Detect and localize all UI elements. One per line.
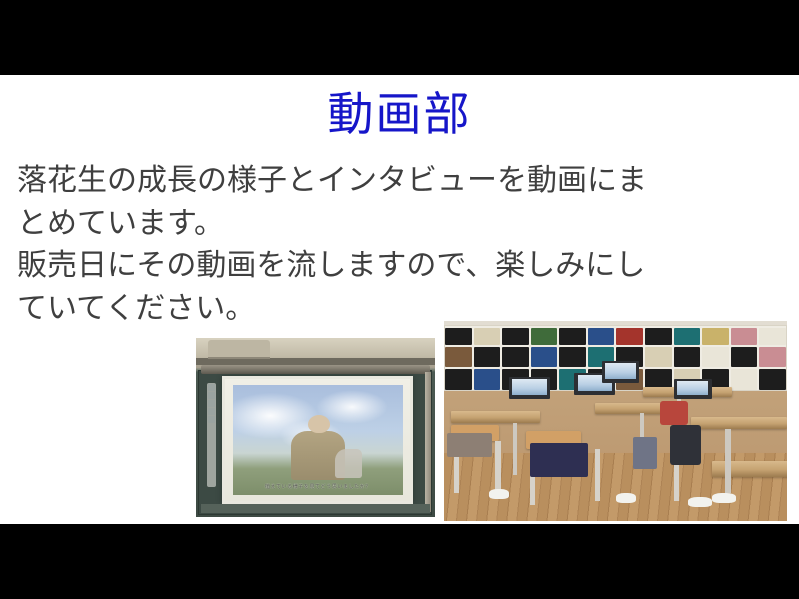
chair-leg [495, 441, 500, 493]
shoe [489, 489, 510, 499]
button-glyph [208, 416, 214, 423]
laptop [509, 377, 550, 399]
body-paragraph-1: 落花生の成長の様子とインタビューを動画にま とめています。 [17, 160, 707, 245]
screen-mount [208, 340, 270, 360]
shelf-cell [702, 347, 729, 367]
shelf-cell [531, 347, 558, 367]
shelf-cell [559, 328, 586, 345]
shelf-cell [474, 347, 501, 367]
shelf-cell [445, 328, 472, 345]
backpack [670, 425, 701, 465]
whiteboard-button-strip [207, 383, 217, 487]
shelf-row [444, 328, 787, 345]
body-paragraph-2: 販売日にその動画を流しますので、楽しみにし ていてください。 [17, 245, 707, 330]
shelf-cell [645, 347, 672, 367]
shelf-cell [559, 347, 586, 367]
button-glyph [208, 408, 214, 415]
school-bag [530, 443, 588, 477]
shelf-cell [702, 328, 729, 345]
screen-roller [201, 365, 430, 374]
desk-leg [513, 423, 518, 475]
school-bag [447, 433, 492, 457]
shelf-cell [502, 347, 529, 367]
shelf-cell [759, 369, 786, 390]
shelf-cell [445, 347, 472, 367]
shelf-cell [731, 369, 758, 390]
blackboard-side-rail [425, 372, 431, 512]
desk [712, 461, 787, 477]
chalk-tray [201, 504, 430, 513]
desk [691, 417, 787, 429]
shelf-cell [445, 369, 472, 390]
desk-leg [725, 429, 730, 493]
water-bottle [660, 401, 687, 425]
body-line: 販売日にその動画を流しますので、楽しみにし [17, 245, 707, 288]
shelf-cell [645, 328, 672, 345]
projector-screen-photo: 植えている様子を見てどう思いましたか？ [196, 338, 435, 517]
video-subtitle: 植えている様子を見てどう思いましたか？ [238, 485, 398, 490]
letterbox-top [0, 0, 799, 75]
shoe [712, 493, 736, 503]
shelf-cell [759, 328, 786, 345]
page-title: 動画部 [0, 90, 799, 138]
shelf-cell [759, 347, 786, 367]
school-bag [633, 437, 657, 469]
chair-leg [595, 449, 600, 501]
video-person-arm [335, 449, 362, 478]
desk [451, 411, 540, 423]
shelf-cell [531, 328, 558, 345]
video-person-head [308, 415, 330, 434]
laptop-screen [605, 363, 637, 379]
body-line: とめています。 [17, 203, 707, 246]
slide-viewer: 動画部 落花生の成長の様子とインタビューを動画にま とめています。 販売日にその… [0, 0, 799, 599]
shelf-cell [731, 328, 758, 345]
shelf-cell [502, 328, 529, 345]
laptop [674, 379, 712, 399]
shoe [616, 493, 637, 503]
slide-body-text: 落花生の成長の様子とインタビューを動画にま とめています。 販売日にその動画を流… [17, 160, 707, 330]
shelf-cell [474, 328, 501, 345]
shelf-cell [731, 347, 758, 367]
shelf-cell [674, 347, 701, 367]
projection-screen: 植えている様子を見てどう思いましたか？ [222, 376, 413, 505]
shelf-cell [474, 369, 501, 390]
body-line: 落花生の成長の様子とインタビューを動画にま [17, 160, 707, 203]
shelf-cell [588, 328, 615, 345]
button-glyph [208, 400, 214, 407]
shoe [688, 497, 712, 507]
button-glyph [208, 392, 214, 399]
laptop-screen [677, 381, 709, 395]
shelf-cell [674, 328, 701, 345]
slide-canvas: 動画部 落花生の成長の様子とインタビューを動画にま とめています。 販売日にその… [0, 75, 799, 524]
shelf-cell [616, 328, 643, 345]
laptop-screen [512, 379, 547, 395]
laptop [602, 361, 640, 383]
button-glyph [208, 384, 214, 391]
projected-video-frame: 植えている様子を見てどう思いましたか？ [233, 385, 403, 496]
students-laptops-photo [444, 321, 787, 521]
letterbox-bottom [0, 524, 799, 599]
